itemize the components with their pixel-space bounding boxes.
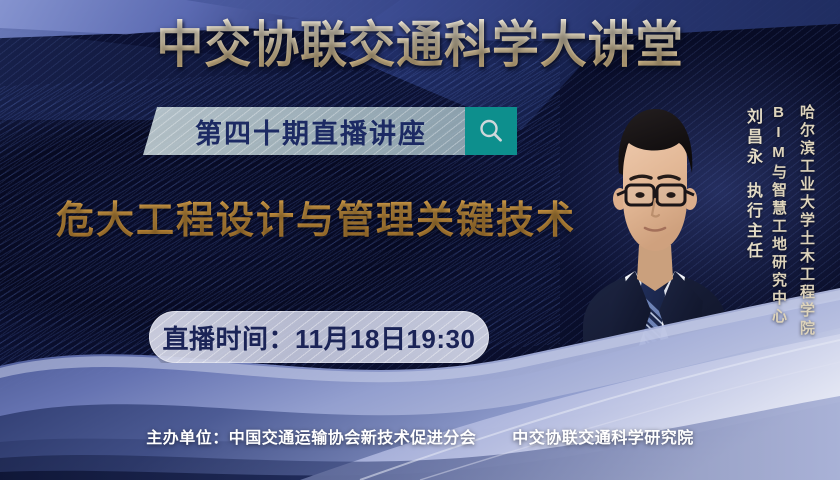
- footer-organizers: 主办单位：中国交通运输协会新技术促进分会 中交协联交通科学研究院: [0, 424, 840, 448]
- silk-ribbon-decoration: [0, 270, 840, 480]
- affiliation-school: 哈尔滨工业大学土木工程学院: [796, 104, 817, 338]
- footer-organizer-primary: 主办单位：中国交通运输协会新技术促进分会: [146, 430, 476, 447]
- footer-organizer-secondary: 中交协联交通科学研究院: [512, 430, 694, 447]
- schedule-label: 直播时间：11月18日19:30: [149, 311, 489, 363]
- speaker-role: 执行主任: [740, 182, 764, 262]
- affiliation-center: BIM与智慧工地研究中心: [768, 104, 789, 326]
- poster-canvas: 中交协联交通科学大讲堂 中交协联交通科学大讲堂 第四十期直播讲座 危大工程设计与…: [0, 0, 840, 480]
- main-title: 中交协联交通科学大讲堂: [25, 18, 815, 73]
- speaker-name: 刘昌永: [740, 108, 764, 168]
- search-button[interactable]: [465, 107, 517, 155]
- search-icon: [477, 117, 505, 145]
- subtitle-bar-label: 第四十期直播讲座: [143, 107, 465, 155]
- lecture-title: 危大工程设计与管理关键技术: [56, 189, 576, 244]
